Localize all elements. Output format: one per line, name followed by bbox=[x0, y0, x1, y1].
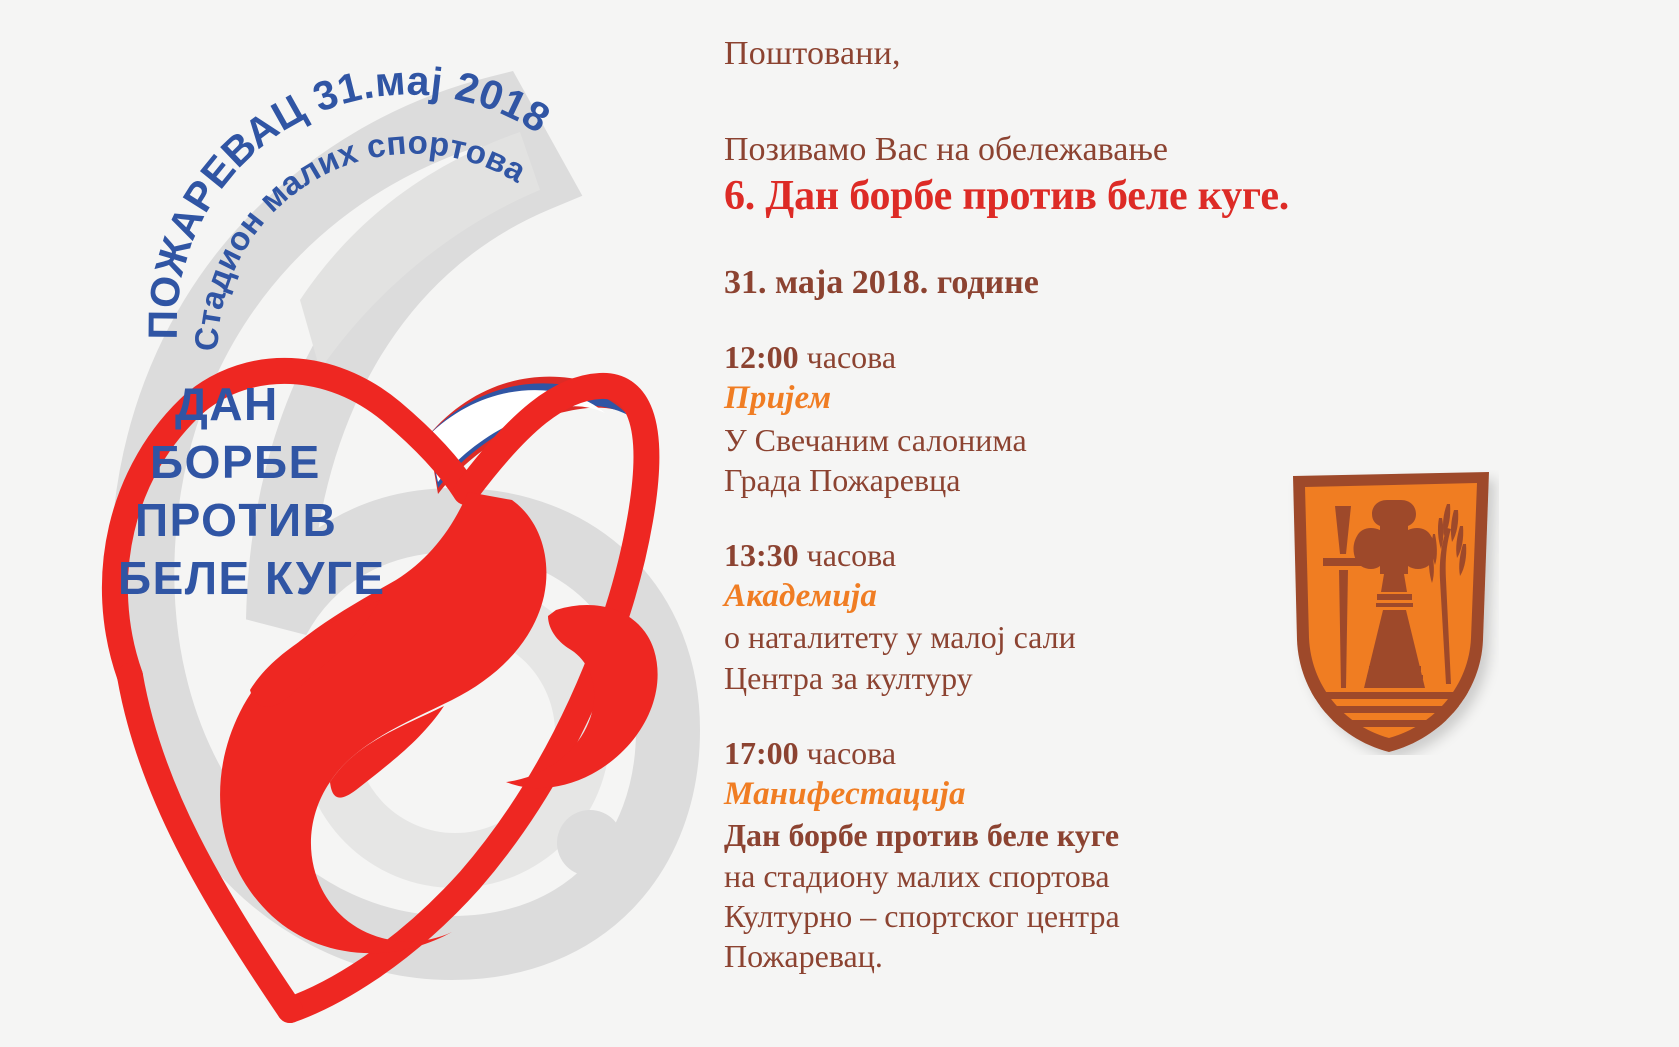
schedule-item: 17:00 часова Манифестација Дан борбе про… bbox=[724, 734, 1364, 977]
coat-of-arms-pozarevac bbox=[1283, 470, 1499, 755]
schedule-time-suffix: часова bbox=[807, 339, 896, 375]
schedule-time-suffix: часова bbox=[807, 735, 896, 771]
schedule-detail-line: на стадиону малих спортова bbox=[724, 856, 1364, 896]
schedule-item: 13:30 часова Академија о наталитету у ма… bbox=[724, 536, 1364, 698]
schedule-list: 12:00 часова Пријем У Свечаним салонима … bbox=[724, 338, 1364, 976]
schedule-detail-line: о наталитету у малој сали bbox=[724, 617, 1364, 657]
logo-svg: ПОЖАРЕВАЦ 31.мај 2018. Стадион малих спо… bbox=[0, 0, 700, 1047]
schedule-detail-line: У Свечаним салонима bbox=[724, 420, 1364, 460]
event-date: 31. маја 2018. године bbox=[724, 263, 1364, 304]
schedule-time: 17:00 bbox=[724, 735, 799, 771]
schedule-detail-line: Културно – спортског центра bbox=[724, 896, 1364, 936]
crest-svg bbox=[1283, 470, 1499, 755]
schedule-detail-line: Дан борбе против беле куге bbox=[724, 815, 1364, 855]
poster-canvas: ПОЖАРЕВАЦ 31.мај 2018. Стадион малих спо… bbox=[0, 0, 1679, 1047]
schedule-time: 13:30 bbox=[724, 537, 799, 573]
schedule-time-row: 12:00 часова bbox=[724, 338, 1364, 378]
logo-wordmark-line-1: БОРБЕ bbox=[150, 436, 321, 488]
schedule-time-row: 17:00 часова bbox=[724, 734, 1364, 774]
schedule-time: 12:00 bbox=[724, 339, 799, 375]
logo-wordmark-line-3: БЕЛЕ КУГЕ bbox=[118, 552, 386, 604]
schedule-time-suffix: часова bbox=[807, 537, 896, 573]
schedule-detail-line: Пожаревац. bbox=[724, 936, 1364, 976]
event-headline: 6. Дан борбе против беле куге. bbox=[724, 172, 1364, 222]
schedule-title: Пријем bbox=[724, 378, 1364, 420]
schedule-item: 12:00 часова Пријем У Свечаним салонима … bbox=[724, 338, 1364, 500]
logo-wordmark-line-2: ПРОТИВ bbox=[135, 494, 337, 546]
waves-charge bbox=[1301, 692, 1479, 727]
event-logo: ПОЖАРЕВАЦ 31.мај 2018. Стадион малих спо… bbox=[0, 0, 700, 1047]
schedule-time-row: 13:30 часова bbox=[724, 536, 1364, 576]
schedule-title: Академија bbox=[724, 576, 1364, 618]
schedule-detail-line: Града Пожаревца bbox=[724, 460, 1364, 500]
invitation-text: Поштовани, Позивамо Вас на обележавање 6… bbox=[724, 34, 1364, 977]
salutation: Поштовани, bbox=[724, 34, 1364, 74]
schedule-detail-line: Центра за културу bbox=[724, 658, 1364, 698]
lead-line: Позивамо Вас на обележавање bbox=[724, 130, 1364, 171]
schedule-title: Манифестација bbox=[724, 774, 1364, 816]
grey-period-dot bbox=[557, 810, 623, 876]
logo-wordmark-line-0: ДАН bbox=[175, 378, 279, 430]
